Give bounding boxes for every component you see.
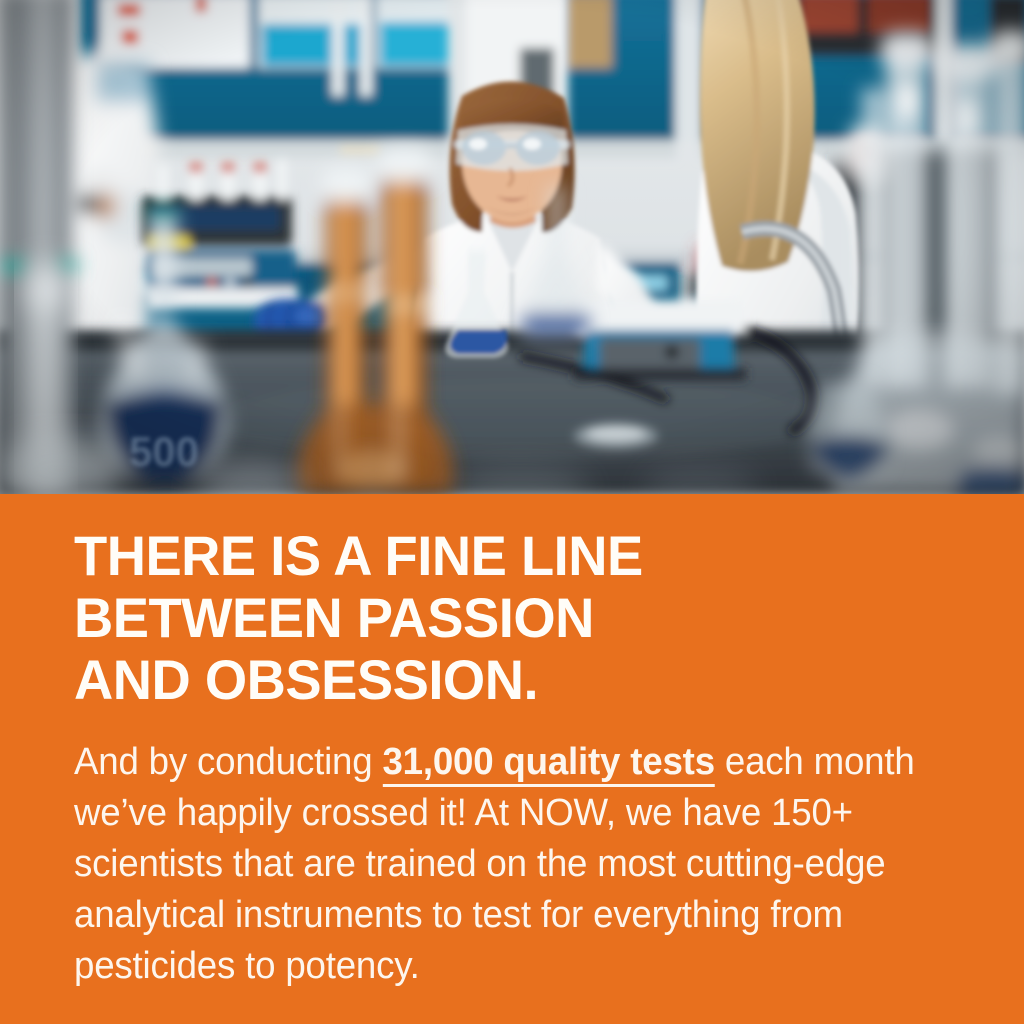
stat-highlight: 31,000 quality tests (382, 741, 714, 787)
laboratory-photo: 500 (0, 0, 1024, 494)
body-before: And by conducting (74, 741, 382, 783)
page-title: THERE IS A FINE LINE BETWEEN PASSION AND… (74, 525, 947, 711)
lab-scene-illustration: 500 (0, 0, 1024, 494)
body-copy: And by conducting 31,000 quality tests e… (74, 737, 923, 992)
social-post-card: 500 (0, 0, 1024, 1024)
